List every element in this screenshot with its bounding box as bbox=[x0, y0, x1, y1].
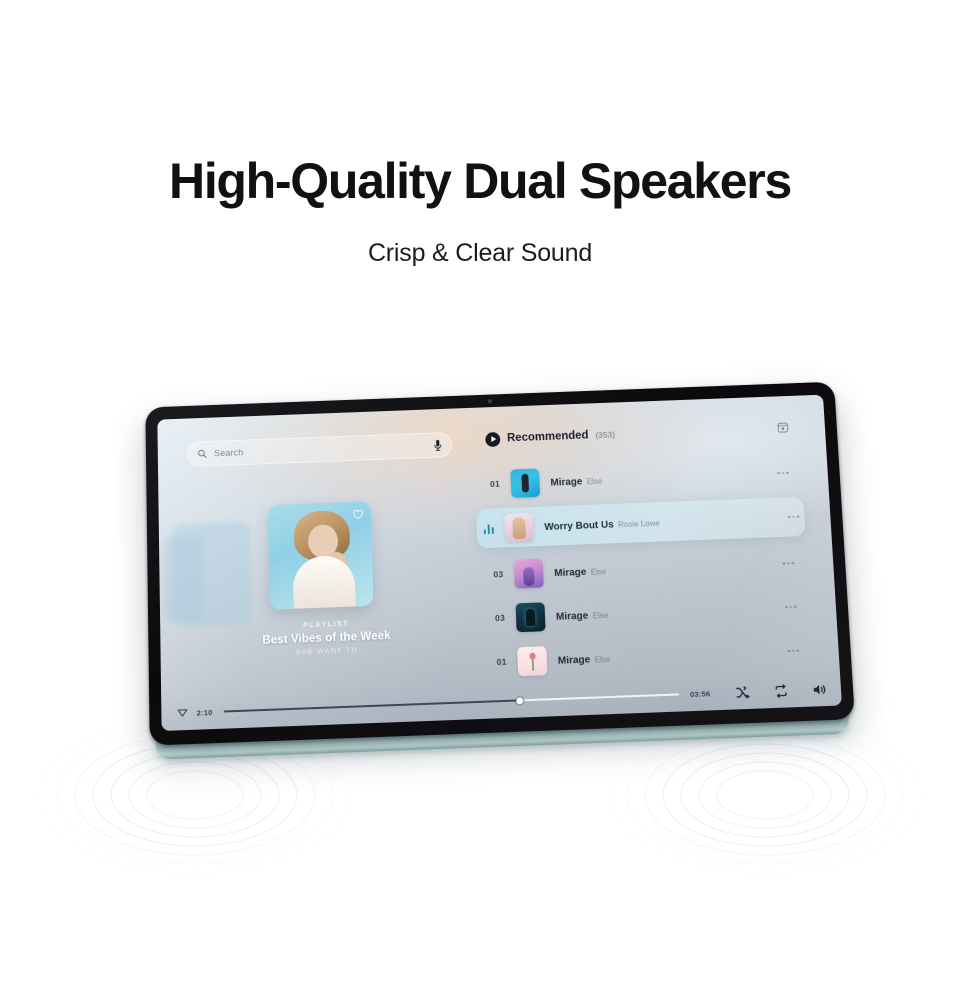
track-title: Mirage bbox=[558, 655, 591, 667]
page-subheadline: Crisp & Clear Sound bbox=[0, 236, 960, 270]
progress-fill bbox=[224, 699, 520, 712]
track-meta: Mirage Else bbox=[557, 642, 782, 668]
track-title: Worry Bout Us bbox=[544, 520, 614, 533]
download-icon[interactable] bbox=[776, 420, 790, 434]
elapsed-time: 2:10 bbox=[197, 707, 213, 717]
microphone-icon[interactable] bbox=[433, 439, 442, 452]
playlist-title: Best Vibes of the Week bbox=[240, 629, 412, 647]
track-number: 03 bbox=[488, 612, 512, 623]
track-title: Mirage bbox=[554, 567, 587, 579]
chevron-down-icon[interactable] bbox=[175, 706, 189, 721]
equalizer-icon bbox=[477, 522, 501, 534]
track-thumbnail bbox=[517, 646, 547, 676]
play-icon[interactable] bbox=[485, 432, 500, 447]
track-number: 03 bbox=[486, 569, 510, 580]
track-thumbnail bbox=[515, 602, 545, 632]
track-thumbnail bbox=[510, 468, 540, 497]
background-card-near bbox=[173, 521, 252, 627]
more-options-icon[interactable] bbox=[772, 471, 794, 474]
recommended-header: Recommended (353) bbox=[485, 417, 790, 450]
tablet-device: Search bbox=[145, 382, 857, 782]
track-row-4[interactable]: 03 Mirage Else bbox=[487, 588, 803, 638]
more-options-icon[interactable] bbox=[782, 649, 804, 652]
progress-slider[interactable] bbox=[224, 693, 679, 712]
total-time: 03:56 bbox=[690, 689, 711, 699]
search-icon bbox=[197, 449, 207, 459]
volume-icon[interactable] bbox=[811, 681, 827, 697]
album-art[interactable] bbox=[268, 501, 374, 609]
playlist-subtitle: SHE WANT TO bbox=[257, 646, 397, 658]
promo-page: High-Quality Dual Speakers Crisp & Clear… bbox=[0, 0, 960, 1000]
list-count: (353) bbox=[595, 430, 615, 440]
playlist-kicker: PLAYLIST bbox=[256, 619, 396, 631]
track-meta: Mirage Else bbox=[556, 598, 781, 624]
search-placeholder: Search bbox=[214, 440, 433, 458]
track-title: Mirage bbox=[556, 611, 589, 623]
shuffle-icon[interactable] bbox=[735, 684, 751, 700]
tablet-stage: Search bbox=[0, 360, 960, 790]
list-title: Recommended bbox=[507, 430, 589, 445]
track-title: Mirage bbox=[550, 477, 582, 489]
more-options-icon[interactable] bbox=[777, 562, 799, 565]
more-options-icon[interactable] bbox=[783, 515, 805, 518]
music-app: Search bbox=[157, 395, 842, 731]
track-artist: Else bbox=[587, 477, 603, 486]
track-meta: Worry Bout Us Rosie Lowe bbox=[544, 508, 783, 535]
tablet-screen: Search bbox=[157, 395, 842, 731]
track-thumbnail bbox=[504, 512, 534, 542]
front-camera-icon bbox=[488, 399, 492, 403]
page-headline: High-Quality Dual Speakers bbox=[0, 150, 960, 212]
repeat-icon[interactable] bbox=[773, 683, 789, 699]
track-row-2-active[interactable]: Worry Bout Us Rosie Lowe bbox=[476, 497, 806, 549]
tablet-bezel: Search bbox=[145, 382, 855, 746]
heart-icon[interactable] bbox=[352, 508, 364, 520]
progress-knob[interactable] bbox=[516, 697, 523, 704]
track-meta: Mirage Else bbox=[550, 465, 773, 491]
playback-controls bbox=[735, 681, 827, 700]
track-number: 01 bbox=[489, 656, 513, 667]
track-row-3[interactable]: 03 Mirage Else bbox=[486, 544, 801, 593]
track-meta: Mirage Else bbox=[554, 555, 778, 581]
track-thumbnail bbox=[514, 558, 544, 588]
track-artist: Rosie Lowe bbox=[618, 519, 660, 529]
track-number: 01 bbox=[483, 478, 507, 489]
more-options-icon[interactable] bbox=[780, 605, 802, 608]
track-artist: Else bbox=[594, 655, 610, 665]
track-row-1[interactable]: 01 Mirage Else bbox=[482, 454, 795, 503]
search-input[interactable]: Search bbox=[187, 432, 452, 467]
track-artist: Else bbox=[593, 611, 609, 621]
track-artist: Else bbox=[591, 567, 607, 576]
